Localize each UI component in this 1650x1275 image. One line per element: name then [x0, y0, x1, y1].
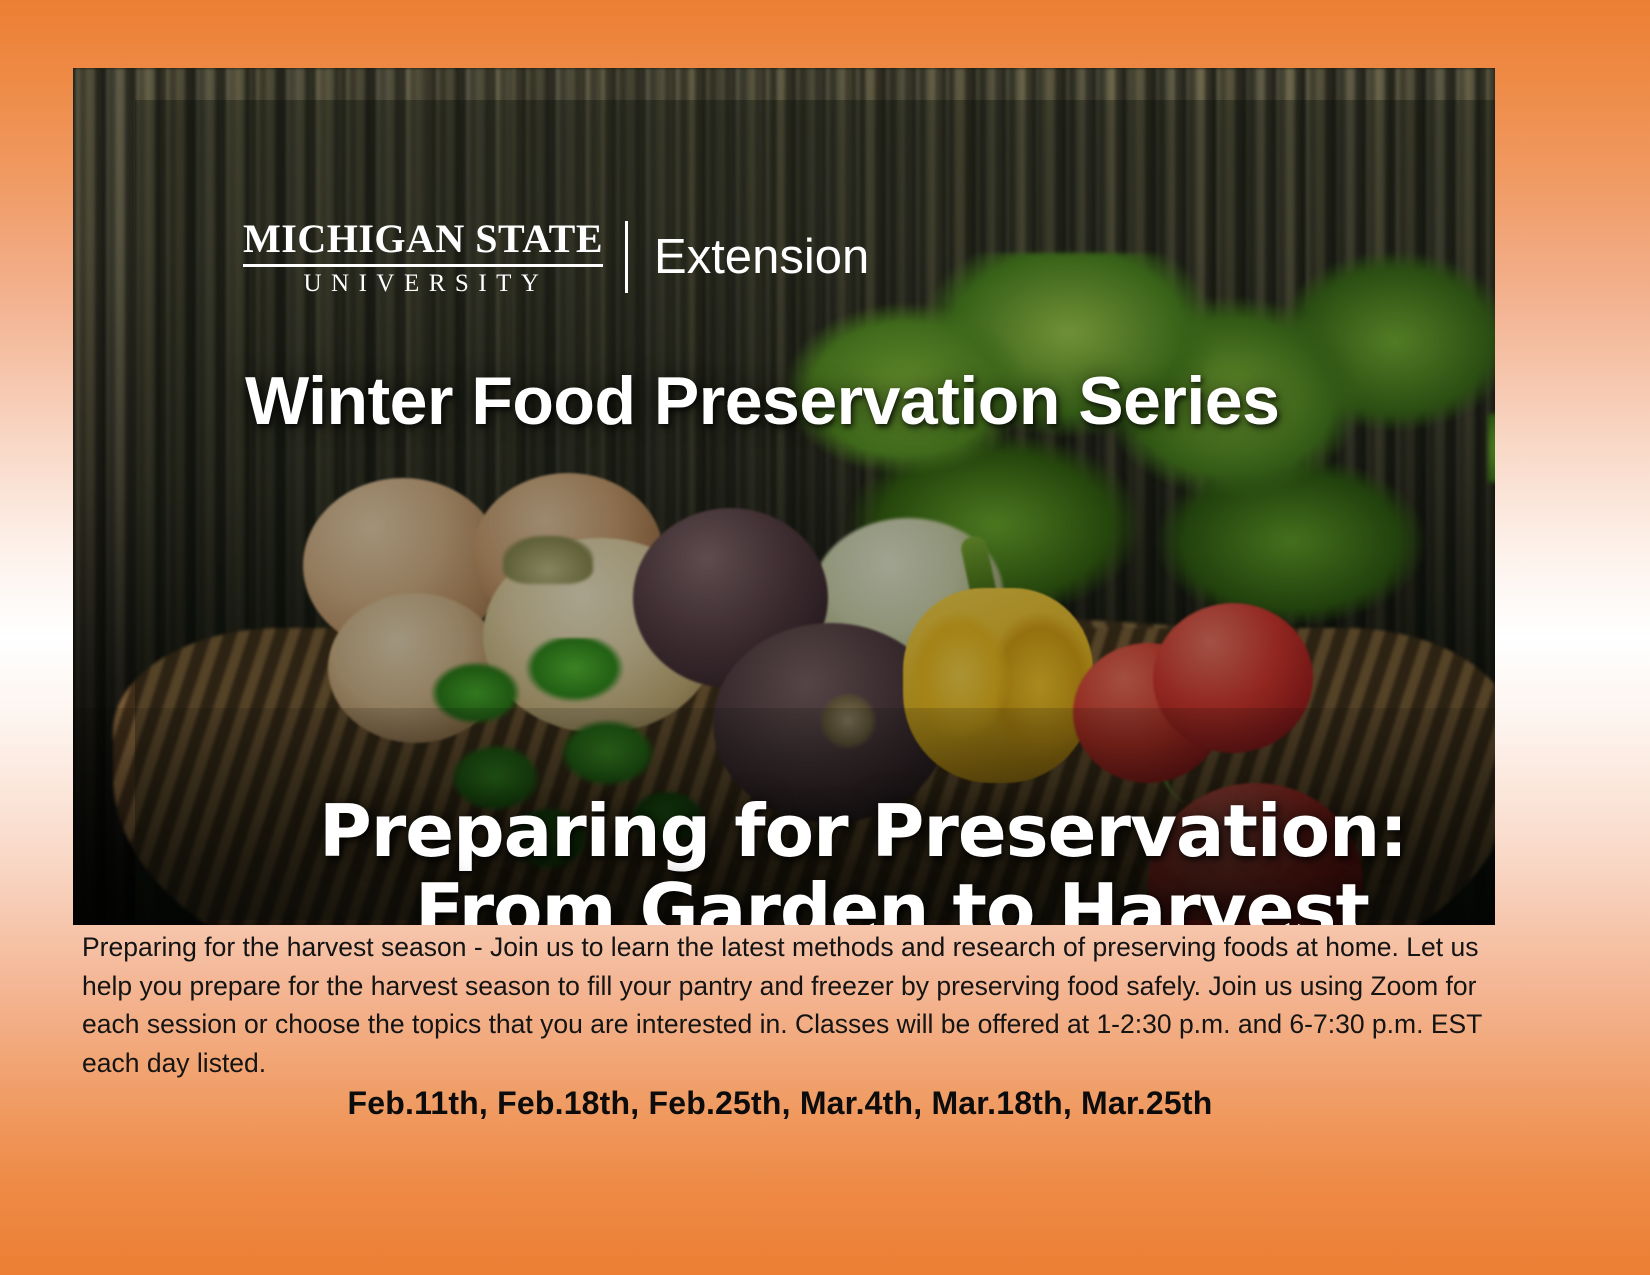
msu-wordmark-rule [243, 264, 603, 267]
msu-wordmark: MICHIGAN STATE UNIVERSITY [243, 219, 603, 296]
extension-wordmark: Extension [654, 233, 869, 282]
flyer-page: MICHIGAN STATE UNIVERSITY Extension Wint… [0, 0, 1650, 1275]
msu-extension-logo: MICHIGAN STATE UNIVERSITY Extension [243, 220, 869, 294]
logo-divider [625, 221, 628, 293]
description-paragraph: Preparing for the harvest season - Join … [82, 928, 1482, 1083]
event-subhead-line1: Preparing for Preservation: [319, 789, 1407, 873]
series-title: Winter Food Preservation Series [245, 362, 1279, 440]
msu-wordmark-line1: MICHIGAN STATE [243, 219, 603, 259]
msu-wordmark-line2: UNIVERSITY [243, 271, 603, 296]
event-subhead-line2: From Garden to Harvest [415, 871, 1407, 925]
hero-photo: MICHIGAN STATE UNIVERSITY Extension Wint… [73, 68, 1495, 925]
event-subhead: Preparing for Preservation: From Garden … [319, 792, 1407, 925]
session-dates: Feb.11th, Feb.18th, Feb.25th, Mar.4th, M… [0, 1085, 1560, 1122]
